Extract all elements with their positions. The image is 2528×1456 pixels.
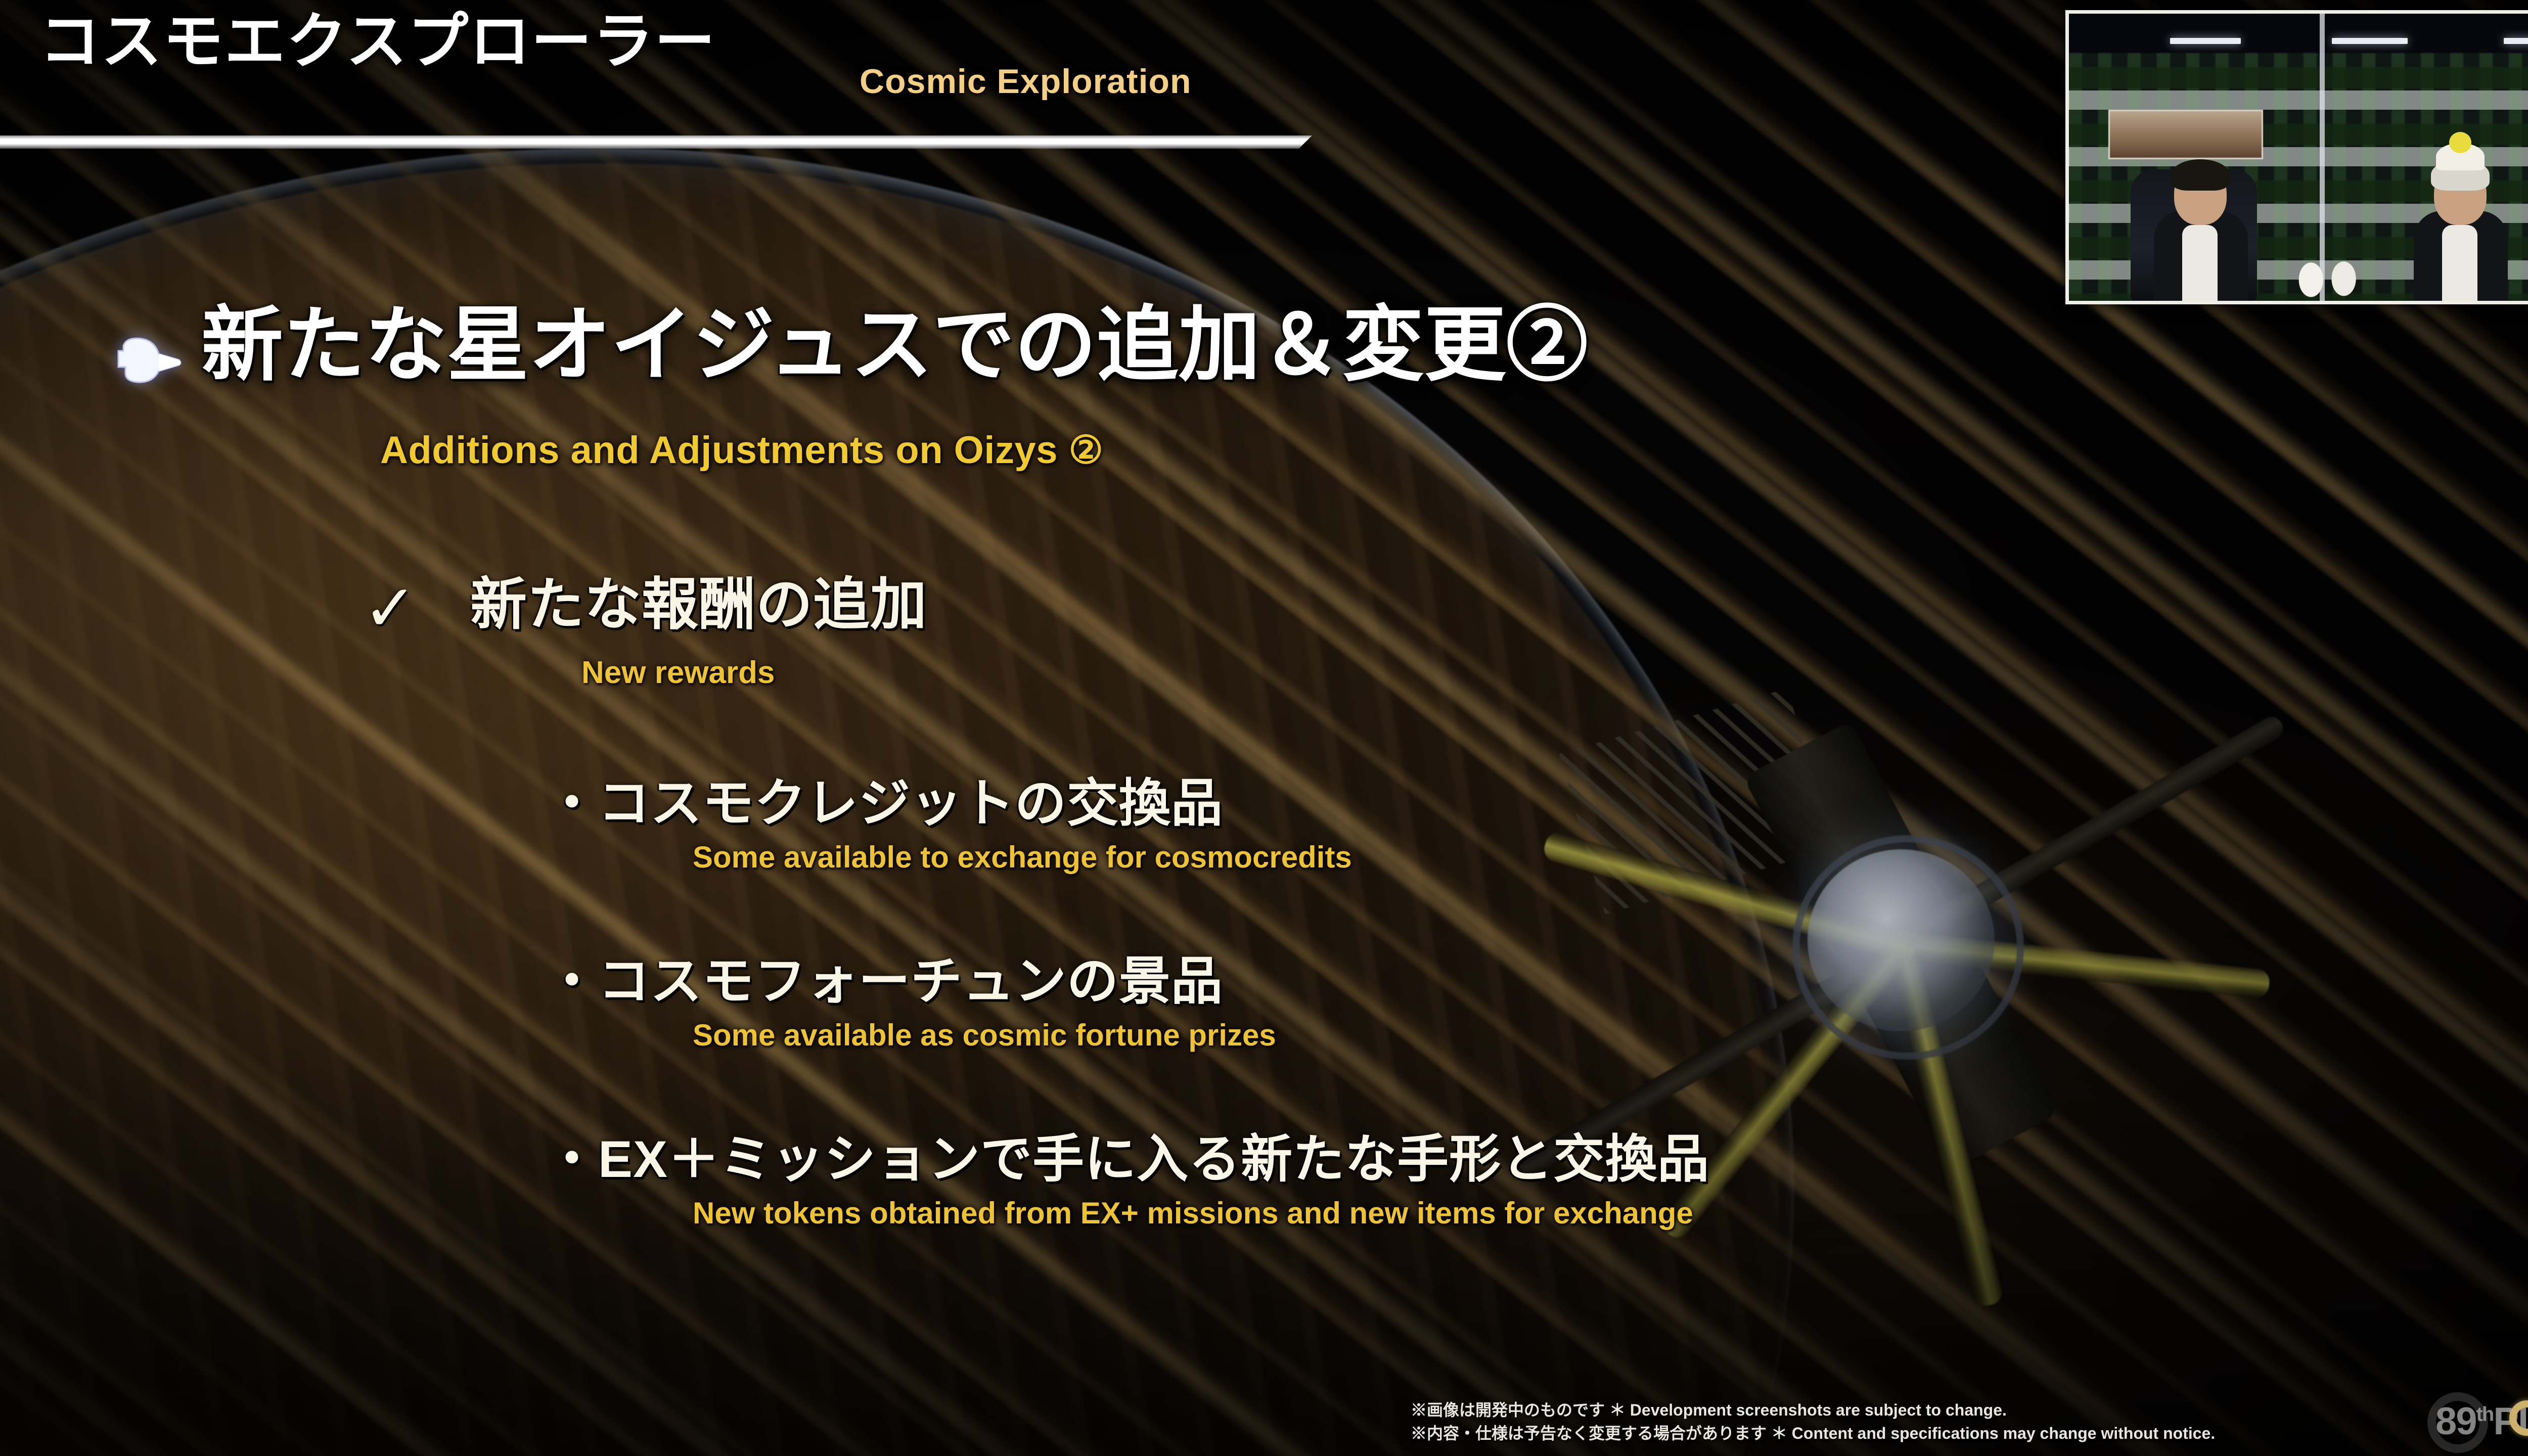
- slide-title-jp: 新たな星オイジュスでの追加＆変更②: [201, 303, 1588, 387]
- disclaimer-footer: ※画像は開発中のものです ＊ Development screenshots a…: [1411, 1398, 2472, 1445]
- presenter-shirt: [2182, 225, 2218, 301]
- header-title-en: Cosmic Exploration: [860, 62, 1192, 101]
- webcam-inset[interactable]: [2065, 10, 2528, 304]
- header-underline: [0, 135, 1312, 149]
- broadcast-watermark: 89thPLL: [2424, 1391, 2528, 1454]
- presenter-hair: [2171, 159, 2230, 191]
- yellow-pompom: [2449, 132, 2471, 153]
- bullet-label-jp: コスモフォーチュンの景品: [598, 952, 1223, 1010]
- webcam-ceiling: [2069, 14, 2528, 53]
- section-heading-en: New rewards: [581, 655, 775, 691]
- pointing-hand-icon: [115, 334, 182, 384]
- ceiling-light: [2332, 38, 2408, 44]
- list-item: ・EX＋ミッションで手に入る新たな手形と交換品 New tokens obtai…: [546, 1133, 1709, 1228]
- list-item: ・コスモクレジットの交換品 Some available to exchange…: [546, 778, 1352, 873]
- bullet-marker: ・: [546, 952, 598, 1010]
- watermark-number: 89: [2435, 1400, 2476, 1443]
- section-heading-jp: 新たな報酬の追加: [470, 559, 927, 641]
- desk-figurines: [2287, 248, 2378, 301]
- header-title-jp: コスモエクスプローラー: [39, 11, 716, 72]
- presenter-left: [2143, 149, 2259, 301]
- presenter-shirt: [2442, 225, 2477, 301]
- bullet-marker: ・: [546, 1130, 598, 1188]
- bullet-marker: ・: [546, 775, 598, 832]
- bullet-text-jp: ・コスモクレジットの交換品: [546, 778, 1352, 829]
- list-item: ・コスモフォーチュンの景品 Some available as cosmic f…: [546, 955, 1276, 1051]
- bullet-text-jp: ・コスモフォーチュンの景品: [546, 955, 1276, 1007]
- bullet-text-en: New tokens obtained from EX+ missions an…: [693, 1198, 1709, 1228]
- checkmark-icon: ✓: [363, 576, 429, 642]
- bullet-label-jp: EX＋ミッションで手に入る新たな手形と交換品: [598, 1130, 1709, 1188]
- slide-title-en: Additions and Adjustments on Oizys ②: [380, 427, 1103, 472]
- slide-header: コスモエクスプローラー Cosmic Exploration: [0, 0, 1325, 152]
- bullet-text-en: Some available to exchange for cosmocred…: [693, 842, 1352, 873]
- disclaimer-line-2: ※内容・仕様は予告なく変更する場合があります ＊ Content and spe…: [1411, 1422, 2472, 1445]
- bullet-label-jp: コスモクレジットの交換品: [598, 775, 1223, 832]
- watermark-ordinal: th: [2476, 1403, 2494, 1426]
- ceiling-light: [2504, 38, 2528, 44]
- presenter-right: [2403, 149, 2519, 301]
- bullet-text-jp: ・EX＋ミッションで手に入る新たな手形と交換品: [546, 1133, 1709, 1185]
- presentation-slide: コスモエクスプローラー Cosmic Exploration: [0, 0, 2528, 1456]
- disclaimer-line-1: ※画像は開発中のものです ＊ Development screenshots a…: [1411, 1398, 2472, 1422]
- bullet-text-en: Some available as cosmic fortune prizes: [693, 1020, 1276, 1051]
- ceiling-light: [2170, 38, 2241, 44]
